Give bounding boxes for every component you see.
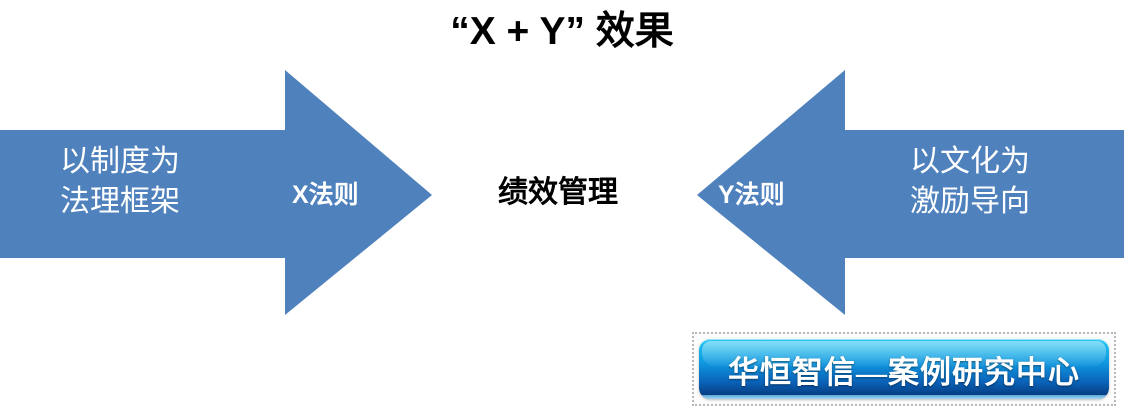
left-box-label: 以制度为 法理框架 <box>60 142 180 222</box>
brand-banner-plate[interactable]: 华恒智信—案例研究中心 <box>699 339 1109 399</box>
right-arrow-label: Y法则 <box>718 180 785 210</box>
slide-canvas: “X + Y” 效果 以制度为 法理框架 X法则 绩效管理 Y法则 以文化为 激… <box>0 0 1124 412</box>
right-box-label: 以文化为 激励导向 <box>910 142 1030 222</box>
right-box-line-2: 激励导向 <box>910 182 1030 222</box>
brand-banner[interactable]: 华恒智信—案例研究中心 <box>692 332 1116 406</box>
brand-banner-text: 华恒智信—案例研究中心 <box>728 347 1080 392</box>
center-label: 绩效管理 <box>446 174 670 212</box>
right-box-line-1: 以文化为 <box>910 142 1030 182</box>
left-arrow-label: X法则 <box>292 180 359 210</box>
left-box-line-2: 法理框架 <box>60 182 180 222</box>
left-box-line-1: 以制度为 <box>60 142 180 182</box>
